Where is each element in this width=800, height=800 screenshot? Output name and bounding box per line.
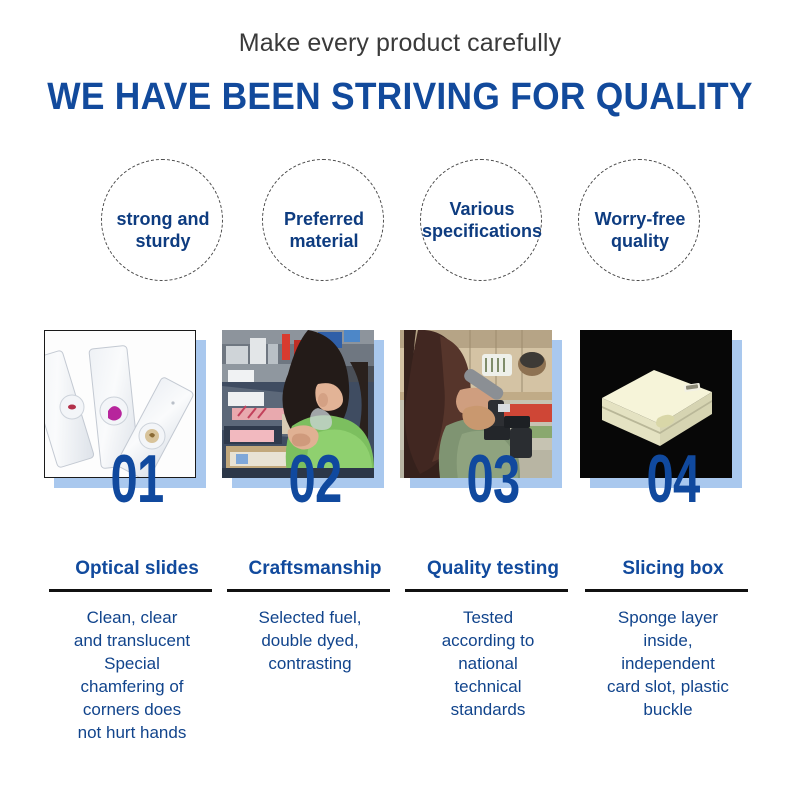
feature-badge-various-specifications: Various specifications <box>420 159 542 281</box>
feature-badges-row: strong and sturdy Preferred material Var… <box>0 159 800 283</box>
feature-badge-label: Worry-free quality <box>557 208 723 252</box>
feature-badge-strong-and-sturdy: strong and sturdy <box>101 159 223 281</box>
product-title: Craftsmanship <box>216 558 414 580</box>
product-column: 01 Optical slides Clean, clear and trans… <box>42 330 232 478</box>
product-description: Selected fuel, double dyed, contrasting <box>220 606 400 675</box>
product-title-rule <box>49 589 212 592</box>
feature-badge-label: strong and sturdy <box>80 208 246 252</box>
product-columns-row: 01 Optical slides Clean, clear and trans… <box>0 330 800 800</box>
product-title: Optical slides <box>38 558 236 580</box>
product-column: 03 Quality testing Tested according to n… <box>398 330 588 478</box>
feature-badge-worry-free-quality: Worry-free quality <box>578 159 700 281</box>
product-title-rule <box>227 589 390 592</box>
product-title-rule <box>585 589 748 592</box>
product-description: Tested according to national technical s… <box>398 606 578 721</box>
product-description: Sponge layer inside, independent card sl… <box>578 606 758 721</box>
product-index-number: 04 <box>605 445 742 513</box>
feature-badge-preferred-material: Preferred material <box>262 159 384 281</box>
feature-badge-label: Various specifications <box>399 198 565 242</box>
feature-badge-label: Preferred material <box>241 208 407 252</box>
page-subtitle: Make every product carefully <box>0 29 800 58</box>
product-title-rule <box>405 589 568 592</box>
product-column: 02 Craftsmanship Selected fuel, double d… <box>220 330 410 478</box>
product-index-number: 01 <box>69 445 206 513</box>
product-title: Slicing box <box>574 558 772 580</box>
product-index-number: 03 <box>425 445 562 513</box>
product-column: 04 Slicing box Sponge layer inside, inde… <box>578 330 768 478</box>
product-index-number: 02 <box>247 445 384 513</box>
page-headline: WE HAVE BEEN STRIVING FOR QUALITY <box>28 76 772 118</box>
product-title: Quality testing <box>394 558 592 580</box>
product-description: Clean, clear and translucent Special cha… <box>42 606 222 744</box>
